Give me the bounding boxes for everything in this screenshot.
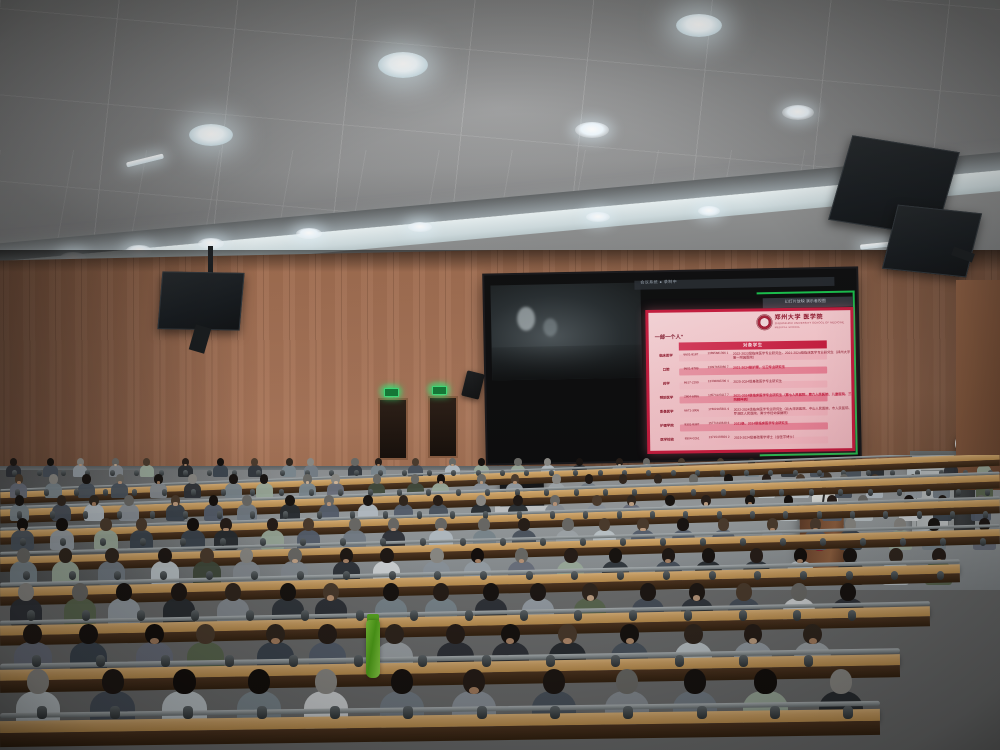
- slide-cell-name: 临床医学: [655, 353, 677, 358]
- audience-head: [702, 548, 716, 563]
- seat-divider: [740, 538, 746, 547]
- audience-neck: [480, 481, 484, 484]
- seat-divider: [60, 538, 66, 547]
- seat-divider: [183, 470, 188, 477]
- seat-divider: [603, 488, 608, 495]
- audience-neck: [439, 481, 443, 484]
- slide-cell-mobile: 17602165601 9: [706, 408, 732, 412]
- seat-divider: [250, 511, 256, 519]
- seat-divider: [418, 655, 427, 667]
- main-led-screen[interactable]: 会议系统 ● 录制中 幻灯片放映 演示者视图 郑州大学 医学院 ZHENGZHO…: [484, 268, 860, 463]
- audience-head: [412, 458, 419, 466]
- seat-divider: [44, 488, 49, 495]
- audience-head: [411, 474, 420, 484]
- seat-divider: [460, 538, 466, 547]
- seat-divider: [838, 488, 843, 495]
- seat-divider: [573, 488, 578, 495]
- seat-divider: [520, 609, 528, 620]
- seat-divider: [719, 470, 724, 477]
- seat-divider: [900, 538, 906, 547]
- audience-head: [225, 583, 241, 601]
- seat-divider: [403, 706, 413, 720]
- slide-cell-tel: 8301-8387: [680, 422, 704, 426]
- audience-neck: [327, 595, 334, 600]
- audience-head: [17, 548, 31, 563]
- seat-divider: [574, 609, 582, 620]
- seat-divider: [160, 571, 167, 581]
- slide-banner-label: 对象学生: [743, 342, 763, 348]
- audience-head: [173, 669, 195, 694]
- slide-cell-description: 2022-2023级临床医学专业研究生、2021-2024级临床医学专业研究生（…: [733, 350, 851, 360]
- audience-head: [585, 474, 594, 484]
- audience-neck: [327, 502, 331, 505]
- audience-head: [10, 458, 17, 466]
- seat-divider: [754, 571, 761, 581]
- seat-divider: [355, 609, 363, 620]
- audience-neck: [173, 502, 177, 505]
- slide-cell-tel: 6671-3906: [680, 408, 704, 412]
- seat-divider: [289, 655, 298, 667]
- seat-divider: [671, 470, 676, 477]
- slide-cell-mobile: 15771310648 6: [706, 422, 732, 426]
- presentation-window-label: 幻灯片放映 演示者视图: [785, 298, 826, 305]
- seat-divider: [809, 488, 814, 495]
- audience-head: [609, 548, 623, 563]
- seat-divider: [32, 655, 41, 667]
- audience-head: [433, 583, 449, 601]
- audience-head: [57, 495, 67, 506]
- audience-neck: [92, 502, 96, 505]
- seat-divider: [868, 488, 873, 495]
- seat-divider: [846, 571, 853, 581]
- audience-head: [351, 458, 358, 466]
- audience-head: [791, 583, 807, 601]
- seat-divider: [417, 511, 423, 519]
- audience-body: [119, 504, 139, 521]
- seat-divider: [739, 655, 748, 667]
- audience-head: [102, 669, 124, 694]
- seat-divider: [526, 571, 533, 581]
- audience-head: [49, 474, 58, 484]
- seat-divider: [708, 571, 715, 581]
- audience-head: [56, 518, 68, 531]
- seat-divider: [132, 488, 137, 495]
- audience-head: [616, 669, 638, 694]
- seat-divider: [980, 538, 986, 547]
- slide-cell-description: 2021-2024级护理、公卫专业研究生: [733, 364, 851, 370]
- seat-divider: [820, 538, 826, 547]
- audience-head: [518, 518, 530, 531]
- audience-neck: [118, 481, 122, 484]
- audience-neck: [292, 559, 298, 564]
- seat-divider: [96, 655, 105, 667]
- audience-head: [718, 518, 730, 531]
- slide-table-row: 影像医学6671-390617602165601 92022-2024级临床医学…: [656, 406, 852, 417]
- audience-head: [79, 624, 98, 645]
- downlight-11: [408, 222, 432, 232]
- audience-head: [158, 548, 172, 563]
- seat-divider: [380, 538, 386, 547]
- audience-head: [27, 669, 49, 694]
- audience-head: [82, 474, 91, 484]
- seat-divider: [623, 706, 633, 720]
- audience-head: [209, 495, 219, 506]
- seat-divider: [338, 488, 343, 495]
- audience-neck: [469, 687, 479, 694]
- seat-divider: [451, 470, 456, 477]
- university-seal-icon: [757, 314, 773, 330]
- green-tea-bottle: [366, 620, 380, 678]
- audience-neck: [438, 528, 443, 532]
- seat-divider: [309, 488, 314, 495]
- audience-neck: [693, 595, 700, 600]
- seat-divider: [550, 706, 560, 720]
- audience-head: [677, 518, 689, 531]
- audience-head: [754, 669, 776, 694]
- seat-divider: [456, 488, 461, 495]
- seat-divider: [629, 609, 637, 620]
- seat-divider: [580, 538, 586, 547]
- seat-divider: [225, 655, 234, 667]
- slide-cell-tel: 2604-6896: [679, 394, 703, 398]
- seat-divider: [117, 511, 123, 519]
- seat-divider: [720, 488, 725, 495]
- seat-divider: [134, 470, 139, 477]
- audience-neck: [513, 481, 517, 484]
- audience-head: [391, 669, 413, 694]
- slide-cell-mobile: 13574123117 7: [705, 394, 731, 398]
- audience-neck: [334, 481, 338, 484]
- audience-head: [385, 624, 404, 645]
- audience-head: [217, 458, 224, 466]
- downlight-3: [676, 14, 722, 37]
- audience-head: [200, 548, 214, 563]
- downlight-12: [586, 212, 610, 222]
- audience-head: [349, 518, 361, 531]
- seat-divider: [434, 571, 441, 581]
- slide-table: 临床医学6601-818713895681396 12022-2023级临床医学…: [649, 350, 855, 453]
- slide-banner: 对象学生: [679, 340, 827, 350]
- lecture-hall-photo: 会议系统 ● 录制中 幻灯片放映 演示者视图 郑州大学 医学院 ZHENGZHO…: [0, 0, 1000, 750]
- audience-head: [285, 495, 295, 506]
- audience-seating: [0, 455, 1000, 750]
- audience-head: [260, 474, 269, 484]
- seat-divider: [251, 571, 258, 581]
- downlight-2: [189, 124, 233, 146]
- audience-head: [116, 583, 132, 601]
- seat-divider: [388, 571, 395, 581]
- seat-divider: [207, 470, 212, 477]
- seat-divider: [848, 609, 856, 620]
- slide-inner: 郑州大学 医学院 ZHENGZHOU UNIVERSITY SCHOOL OF …: [648, 310, 852, 451]
- audience-head: [59, 548, 73, 563]
- audience-head: [242, 495, 252, 506]
- seat-divider: [68, 571, 75, 581]
- seat-divider: [700, 538, 706, 547]
- seat-divider: [697, 706, 707, 720]
- seat-divider: [744, 470, 749, 477]
- seat-divider: [617, 511, 623, 519]
- seat-divider: [206, 571, 213, 581]
- slide-cell-tel: 6601-8187: [679, 352, 703, 356]
- seat-divider: [82, 609, 90, 620]
- exit-sign-2: [432, 386, 447, 395]
- seat-divider: [191, 488, 196, 495]
- audience-head: [373, 474, 382, 484]
- downlight-10: [296, 228, 322, 239]
- seat-divider: [660, 538, 666, 547]
- audience-head: [229, 474, 238, 484]
- slide-table-row: 预防医学2604-689613574123117 72021-2024级临床医学…: [655, 392, 851, 403]
- audience-head: [188, 474, 197, 484]
- audience-head: [830, 669, 852, 694]
- audience-neck: [629, 502, 633, 505]
- seat-divider: [73, 488, 78, 495]
- seat-divider: [617, 571, 624, 581]
- slide-cell-description: 2019-2024级基础理学博士（含医学博士）: [734, 434, 852, 440]
- seat-divider: [675, 655, 684, 667]
- audience-neck: [475, 559, 481, 564]
- seat-divider: [353, 655, 362, 667]
- seat-divider: [220, 488, 225, 495]
- seat-divider: [220, 538, 226, 547]
- seat-divider: [750, 511, 756, 519]
- audience-head: [15, 495, 25, 506]
- seat-divider: [940, 538, 946, 547]
- downlight-5: [782, 105, 814, 120]
- seat-divider: [956, 488, 961, 495]
- audience-head: [483, 583, 499, 601]
- seat-divider: [780, 538, 786, 547]
- seat-divider: [611, 655, 620, 667]
- seat-divider: [420, 538, 426, 547]
- seat-divider: [317, 511, 323, 519]
- slide-university-logo: 郑州大学 医学院 ZHENGZHOU UNIVERSITY SCHOOL OF …: [757, 313, 845, 330]
- audience-body: [213, 465, 227, 478]
- audience-head: [47, 458, 54, 466]
- seat-divider: [477, 706, 487, 720]
- audience-neck: [451, 464, 454, 466]
- audience-head: [592, 495, 602, 506]
- slide-cell-mobile: 13715478829 2: [706, 436, 732, 440]
- seat-divider: [61, 470, 66, 477]
- seat-divider: [985, 488, 990, 495]
- audience-head: [530, 583, 546, 601]
- seat-divider: [27, 609, 35, 620]
- seat-divider: [110, 470, 115, 477]
- audience-head: [619, 474, 628, 484]
- seat-divider: [546, 655, 555, 667]
- audience-neck: [640, 528, 645, 532]
- audience-head: [383, 583, 399, 601]
- seat-divider: [36, 470, 41, 477]
- seat-divider: [480, 571, 487, 581]
- downlight-13: [698, 206, 720, 216]
- seat-divider: [410, 609, 418, 620]
- seat-divider: [597, 470, 602, 477]
- exit-sign-1: [384, 388, 399, 397]
- ceiling-monitor-far-right: [882, 205, 982, 278]
- audience-head: [514, 458, 521, 466]
- audience-head: [187, 518, 199, 531]
- audience-head: [478, 458, 485, 466]
- audience-head: [684, 669, 706, 694]
- seat-divider: [793, 609, 801, 620]
- seat-divider: [450, 511, 456, 519]
- logo-subtitle-2: MEDICAL SCHOOL: [775, 325, 845, 329]
- audience-head: [599, 518, 611, 531]
- seat-divider: [485, 488, 490, 495]
- audience-head: [433, 495, 443, 506]
- seat-divider: [891, 571, 898, 581]
- audience-neck: [79, 464, 82, 466]
- seat-divider: [544, 488, 549, 495]
- exit-door-right[interactable]: [428, 396, 458, 458]
- seat-divider: [843, 706, 853, 720]
- seat-divider: [50, 511, 56, 519]
- seat-divider: [297, 571, 304, 581]
- seat-divider: [897, 488, 902, 495]
- audience-head: [430, 548, 444, 563]
- seat-divider: [937, 571, 944, 581]
- seat-divider: [800, 571, 807, 581]
- seat-divider: [650, 511, 656, 519]
- seat-divider: [23, 571, 30, 581]
- seat-divider: [482, 655, 491, 667]
- audience-neck: [17, 481, 21, 484]
- audience-head: [318, 624, 337, 645]
- audience-head: [562, 518, 574, 531]
- audience-head: [750, 548, 764, 563]
- seat-divider: [354, 470, 359, 477]
- seat-divider: [860, 538, 866, 547]
- seat-divider: [738, 609, 746, 620]
- slide-cell-mobile: 13336802296 4: [705, 380, 731, 384]
- audience-head: [100, 518, 112, 531]
- audience-body: [140, 465, 154, 478]
- seat-divider: [20, 538, 26, 547]
- audience-head: [552, 474, 561, 484]
- audience-head: [543, 669, 565, 694]
- seat-divider: [691, 488, 696, 495]
- seat-divider: [770, 706, 780, 720]
- slide-cell-name: 影像医学: [656, 409, 678, 414]
- exit-door-left[interactable]: [378, 398, 408, 460]
- slide-cell-tel: 6617-2199: [679, 380, 703, 384]
- video-feed-figure-1: [517, 307, 535, 331]
- audience-head: [665, 495, 675, 506]
- seat-divider: [340, 538, 346, 547]
- seat-divider: [217, 511, 223, 519]
- audience-head: [23, 624, 42, 645]
- seat-divider: [426, 488, 431, 495]
- slide-cell-tel: 8304-0261: [680, 436, 704, 440]
- seat-divider: [100, 538, 106, 547]
- slide-cell-mobile: 13997653986 7: [705, 366, 731, 370]
- seat-divider: [465, 609, 473, 620]
- audience-body: [256, 483, 273, 498]
- ceiling-monitor-left: [157, 271, 244, 330]
- slide-cell-name: 预防医学: [655, 395, 677, 400]
- audience-head: [576, 458, 583, 466]
- audience-head: [280, 583, 296, 601]
- seat-divider: [161, 655, 170, 667]
- audience-neck: [223, 528, 228, 532]
- seat-divider: [110, 706, 120, 720]
- seat-divider: [571, 571, 578, 581]
- audience-head: [105, 548, 119, 563]
- seat-divider: [500, 470, 505, 477]
- audience-head: [18, 583, 34, 601]
- audience-neck: [306, 481, 310, 484]
- seat-divider: [114, 571, 121, 581]
- slide-cell-name: 口腔: [655, 367, 677, 372]
- audience-head: [171, 583, 187, 601]
- seat-divider: [803, 655, 812, 667]
- audience-body: [225, 483, 242, 498]
- slide-cell-mobile: 13895681396 1: [705, 352, 731, 356]
- monitor-arm-left: [208, 246, 213, 274]
- audience-head: [240, 548, 254, 563]
- slide-cell-name: 医学检验: [656, 437, 678, 442]
- slide-cell-description: 2020-2024级基础医学专业研究生: [733, 378, 851, 384]
- presentation-slide: 郑州大学 医学院 ZHENGZHOU UNIVERSITY SCHOOL OF …: [645, 307, 855, 454]
- audience-head: [124, 495, 134, 506]
- seat-divider: [662, 488, 667, 495]
- downlight-4: [575, 122, 609, 138]
- slide-cell-description: 2021-2024级临床医学专业研究生（第七人民医院、第六人民医院、儿童医院、三…: [733, 392, 851, 402]
- seat-divider: [573, 470, 578, 477]
- seat-divider: [180, 538, 186, 547]
- audience-head: [399, 495, 409, 506]
- downlight-1: [378, 52, 428, 78]
- seat-divider: [663, 571, 670, 581]
- audience-head: [446, 624, 465, 645]
- slide-cell-name: 护理学院: [656, 423, 678, 428]
- screen-topbar-label: 会议系统 ● 录制中: [640, 279, 677, 286]
- seat-divider: [260, 538, 266, 547]
- slide-cell-description: 2022-2024级临床医学专业研究生（北大深圳医院、中山人民医院、市人民医院、…: [734, 406, 852, 416]
- seat-divider: [37, 706, 47, 720]
- audience-head: [363, 495, 373, 506]
- seat-divider: [140, 538, 146, 547]
- audience-head: [640, 583, 656, 601]
- seat-divider: [779, 488, 784, 495]
- seat-divider: [917, 511, 923, 519]
- audience-head: [286, 458, 293, 466]
- video-feed-shadow: [492, 345, 643, 381]
- audience-head: [380, 548, 394, 563]
- seat-divider: [684, 609, 692, 620]
- seat-divider: [301, 609, 309, 620]
- seat-divider: [103, 488, 108, 495]
- seat-divider: [817, 470, 822, 477]
- seat-divider: [257, 706, 267, 720]
- seat-divider: [150, 511, 156, 519]
- audience-head: [513, 495, 523, 506]
- audience-head: [840, 583, 856, 601]
- audience-head: [736, 583, 752, 601]
- audience-head: [476, 495, 486, 506]
- audience-head: [196, 624, 215, 645]
- slide-cell-name: 药学: [655, 381, 677, 386]
- seat-divider: [191, 609, 199, 620]
- seat-divider: [500, 538, 506, 547]
- audience-neck: [184, 464, 187, 466]
- seat-divider: [137, 609, 145, 620]
- slide-table-row: 临床医学6601-818713895681396 12022-2023级临床医学…: [655, 350, 851, 361]
- seat-divider: [246, 609, 254, 620]
